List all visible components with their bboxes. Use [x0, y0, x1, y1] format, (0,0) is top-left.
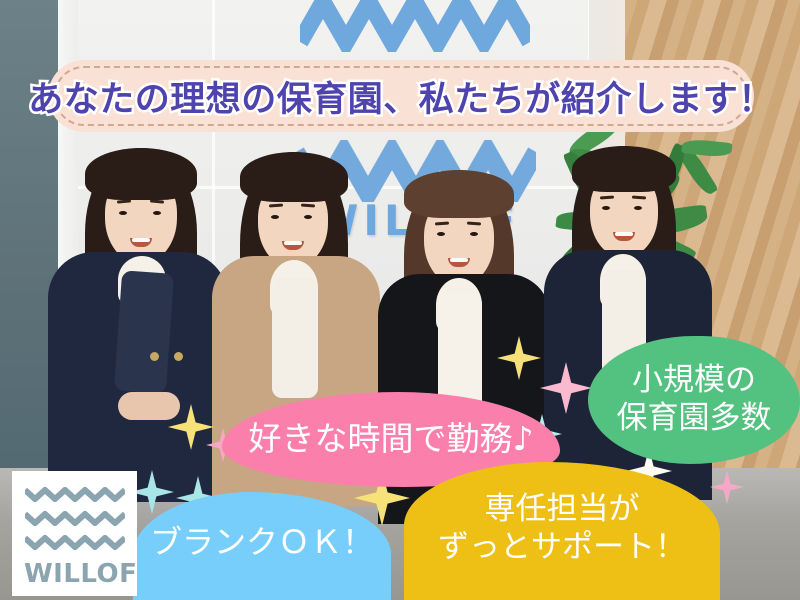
advertisement-banner: WILLOF — [0, 0, 800, 600]
bubble-dedicated-support-line-2: ずっとサポート！ — [438, 529, 686, 567]
headline-text: あなたの理想の保育園、私たちが紹介します！ — [28, 71, 774, 122]
bubble-flexible-hours-line-1: 好きな時間で勤務♪ — [248, 419, 533, 459]
zigzag-wave-icon — [25, 535, 125, 550]
bubble-small-nurseries: 小規模の 保育園多数 — [588, 336, 800, 464]
zigzag-wave-icon — [25, 511, 125, 526]
willof-wordmark: WILLOF — [24, 559, 137, 589]
wall-zigzag-top-icon — [300, 0, 530, 52]
bubble-dedicated-support-line-1: 専任担当が — [438, 491, 686, 529]
bubble-small-nurseries-line-2: 保育園多数 — [617, 400, 772, 438]
willof-logo: WILLOF — [12, 471, 137, 596]
bubble-small-nurseries-line-1: 小規模の — [617, 362, 772, 400]
headline-banner: あなたの理想の保育園、私たちが紹介します！ — [48, 60, 754, 132]
zigzag-wave-icon — [25, 487, 125, 502]
bubble-blank-ok-line-1: ブランクＯＫ！ — [150, 523, 374, 562]
